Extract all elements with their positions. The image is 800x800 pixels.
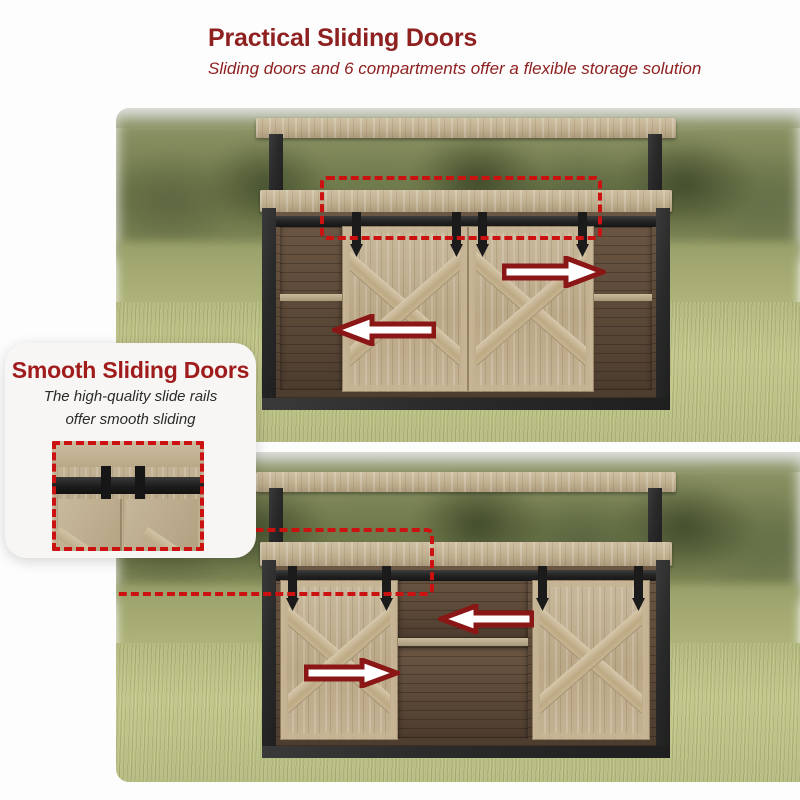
door-hanger-strap: [538, 566, 547, 602]
leg-upper-left: [269, 134, 283, 198]
leg-lower-right: [656, 560, 670, 756]
slide-right-arrow: [502, 256, 606, 288]
page-subtitle: Sliding doors and 6 compartments offer a…: [208, 58, 728, 79]
rail-closeup-photo: [52, 441, 204, 551]
center-compartment-lower: [398, 646, 528, 738]
top-shelf-board: [256, 118, 676, 138]
leg-upper-right: [648, 134, 662, 198]
top-shelf-board: [256, 472, 676, 492]
left-compartment-shelf: [280, 294, 342, 301]
smooth-sliding-doors-callout: Smooth Sliding Doors The high-quality sl…: [5, 343, 256, 558]
left-compartment: [280, 222, 342, 390]
page-title: Practical Sliding Doors: [208, 24, 728, 53]
callout-title: Smooth Sliding Doors: [5, 357, 256, 384]
center-compartment-shelf: [398, 638, 528, 646]
door-hanger-strap: [634, 566, 643, 602]
closeup-dashed-border: [52, 441, 204, 551]
right-compartment: [590, 222, 652, 390]
leg-upper-right: [648, 488, 662, 550]
header-block: Practical Sliding Doors Sliding doors an…: [208, 24, 728, 79]
door-frame: [533, 581, 649, 739]
slide-right-arrow: [304, 658, 400, 688]
door-frame: [469, 227, 593, 391]
callout-subtitle-line2: offer smooth sliding: [13, 411, 248, 430]
slide-left-arrow: [438, 604, 534, 634]
callout-subtitle-line1: The high-quality slide rails: [13, 388, 248, 407]
slide-left-arrow: [332, 314, 436, 346]
leg-lower-left: [262, 208, 276, 408]
leg-lower-right: [656, 208, 670, 408]
bottom-rail: [262, 398, 670, 410]
sliding-door-right[interactable]: [532, 580, 650, 740]
rail-highlight-dashed-box: [320, 176, 602, 240]
door-frame: [343, 227, 467, 391]
sliding-door-right[interactable]: [468, 226, 594, 392]
sideboard-cabinet-closed: [256, 112, 676, 432]
right-compartment-shelf: [590, 294, 652, 301]
sliding-door-left[interactable]: [342, 226, 468, 392]
bottom-rail: [262, 746, 670, 758]
marketing-image-stage: Practical Sliding Doors Sliding doors an…: [0, 0, 800, 800]
